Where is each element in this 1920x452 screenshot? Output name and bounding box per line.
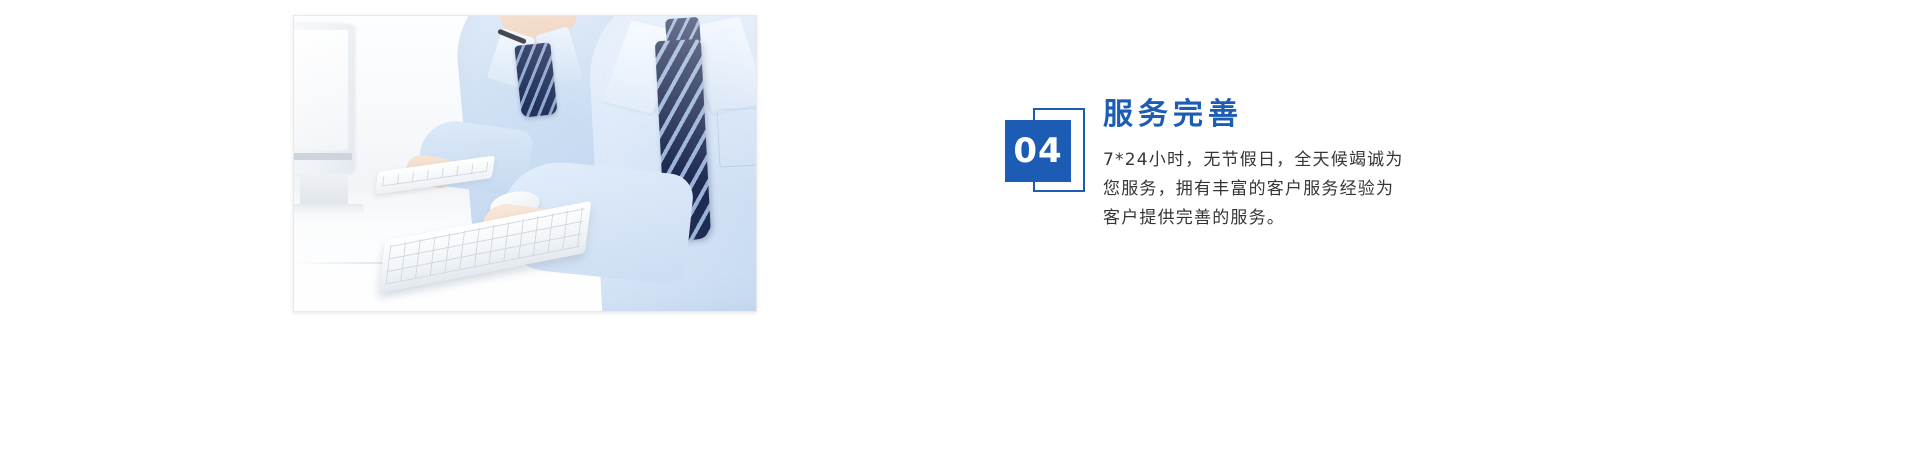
monitor-stand xyxy=(300,174,348,208)
badge-number-label: 04 xyxy=(1013,134,1062,168)
monitor-icon xyxy=(294,24,354,174)
feature-description-line: 客户提供完善的服务。 xyxy=(1103,204,1623,233)
background-agent-tie xyxy=(514,42,557,117)
monitor-base xyxy=(294,204,364,214)
step-number-badge: 04 xyxy=(1005,108,1087,196)
feature-description-line: 7*24小时，无节假日，全天候竭诚为 xyxy=(1103,146,1623,175)
monitor-screen xyxy=(294,30,348,150)
feature-text-column: 服务完善 7*24小时，无节假日，全天候竭诚为 您服务，拥有丰富的客户服务经验为… xyxy=(1103,96,1623,233)
feature-photo-frame xyxy=(293,15,757,312)
foreground-agent-shirt-pocket xyxy=(717,106,756,167)
monitor-screen-bar xyxy=(294,153,352,160)
badge-filled-square: 04 xyxy=(1005,120,1071,182)
feature-title: 服务完善 xyxy=(1103,96,1623,134)
feature-description: 7*24小时，无节假日，全天候竭诚为 您服务，拥有丰富的客户服务经验为 客户提供… xyxy=(1103,146,1623,233)
customer-service-photo xyxy=(294,16,756,311)
promo-section: 04 服务完善 7*24小时，无节假日，全天候竭诚为 您服务，拥有丰富的客户服务… xyxy=(0,0,1920,452)
feature-description-line: 您服务，拥有丰富的客户服务经验为 xyxy=(1103,175,1623,204)
